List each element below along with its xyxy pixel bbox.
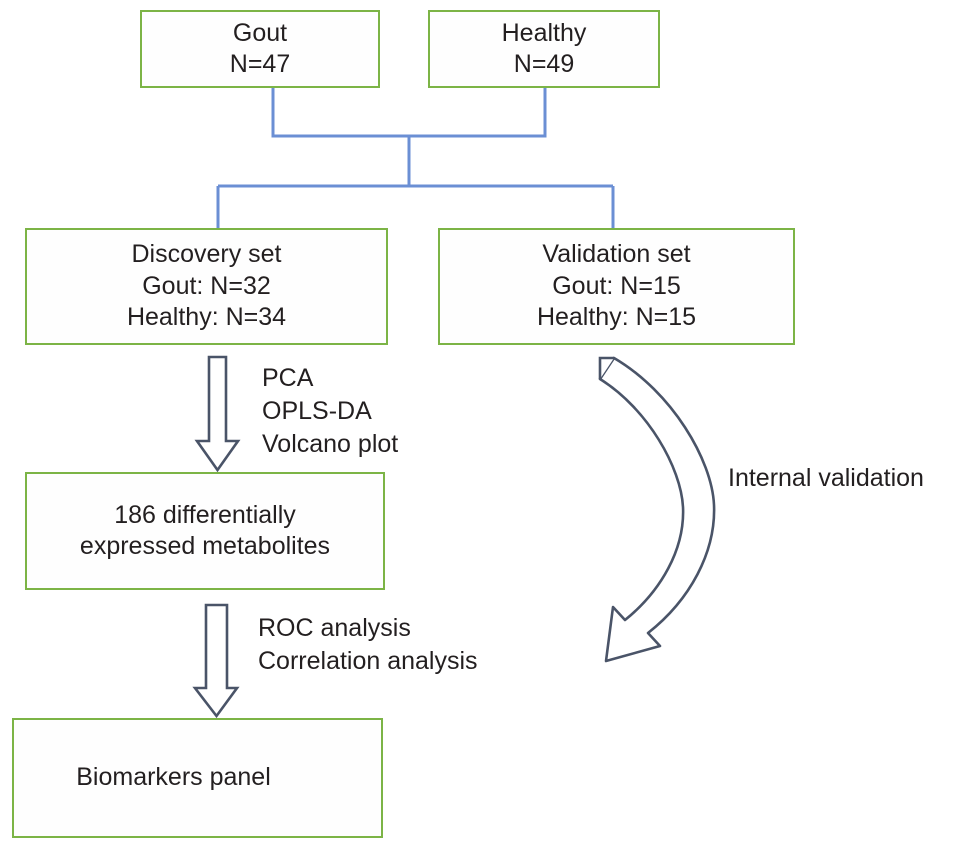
node-metabolites-line1: 186 differentially	[114, 500, 296, 532]
flowchart-canvas: Gout N=47 Healthy N=49 Discovery set Gou…	[0, 0, 969, 853]
process-label-roc: ROC analysis	[258, 612, 478, 645]
node-discovery-title: Discovery set	[131, 239, 281, 271]
node-healthy[interactable]: Healthy N=49	[428, 10, 660, 88]
node-validation-gout-count: Gout: N=15	[552, 271, 681, 303]
curved-arrow-internal-validation	[600, 358, 714, 661]
node-discovery-gout-count: Gout: N=32	[142, 271, 271, 303]
node-gout-count: N=47	[230, 49, 290, 81]
node-metabolites-line2: expressed metabolites	[80, 531, 330, 563]
node-biomarkers-panel[interactable]: Biomarkers panel	[12, 718, 383, 838]
process-label-pca: PCA	[262, 362, 398, 395]
process-label-correlation: Correlation analysis	[258, 645, 478, 678]
node-gout-title: Gout	[233, 18, 287, 50]
block-arrow-down-2	[195, 605, 237, 716]
node-validation-set[interactable]: Validation set Gout: N=15 Healthy: N=15	[438, 228, 795, 345]
node-biomarkers-label: Biomarkers panel	[76, 762, 319, 794]
node-discovery-healthy-count: Healthy: N=34	[127, 302, 286, 334]
node-validation-title: Validation set	[542, 239, 690, 271]
node-healthy-count: N=49	[514, 49, 574, 81]
split-connector	[218, 88, 613, 228]
node-validation-healthy-count: Healthy: N=15	[537, 302, 696, 334]
process-label-oplsda: OPLS-DA	[262, 395, 398, 428]
process-label-volcano: Volcano plot	[262, 428, 398, 461]
process-label-internal-validation: Internal validation	[728, 462, 924, 495]
block-arrow-down-1	[197, 357, 238, 470]
node-healthy-title: Healthy	[502, 18, 587, 50]
process-label-step2: ROC analysis Correlation analysis	[258, 612, 478, 678]
process-label-step1: PCA OPLS-DA Volcano plot	[262, 362, 398, 461]
node-metabolites[interactable]: 186 differentially expressed metabolites	[25, 472, 385, 590]
node-discovery-set[interactable]: Discovery set Gout: N=32 Healthy: N=34	[25, 228, 388, 345]
node-gout[interactable]: Gout N=47	[140, 10, 380, 88]
